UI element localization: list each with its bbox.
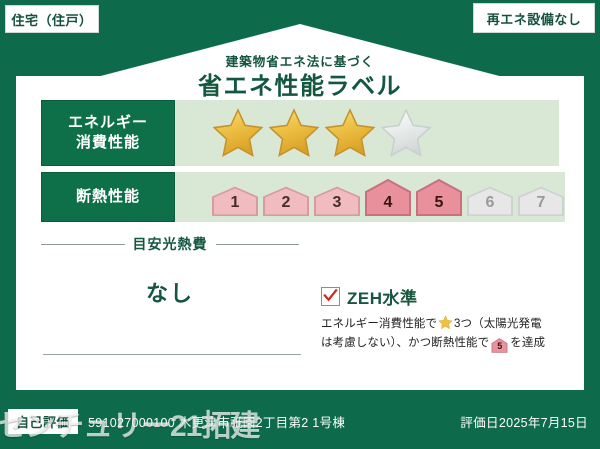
insulation-badge-value: 2: [282, 195, 291, 213]
heading-rule-right: [216, 244, 300, 245]
zeh-desc-badge-value: 5: [491, 338, 508, 355]
lower-section: 目安光熱費 なし ZEH水準 エネルギー消費性能で3つ（太陽光発電は考慮しない）…: [41, 232, 559, 372]
zeh-title: ZEH水準: [347, 284, 418, 309]
zeh-desc-part3: を達成: [510, 337, 545, 349]
insulation-badge-value: 7: [537, 195, 546, 213]
row-energy-label-line1: エネルギー: [68, 113, 148, 133]
zeh-desc-part1: エネルギー消費性能で: [321, 318, 437, 330]
label-content: 建築物省エネ法に基づく 省エネ性能ラベル エネルギー 消費性能 断熱性能 123…: [16, 24, 584, 390]
row-insulation-performance: 断熱性能 1234567: [41, 172, 559, 222]
zeh-desc-badge: 5: [491, 338, 508, 353]
page-title: 省エネ性能ラベル: [16, 73, 584, 101]
zeh-checkbox[interactable]: [321, 287, 340, 306]
star-icon-inline: [438, 315, 453, 330]
check-icon: [323, 288, 338, 303]
footer-bar: 自己評価 591027000100 木更津市祇園2丁目第2 1号棟 評価日202…: [0, 397, 600, 449]
insulation-badge-value: 6: [486, 195, 495, 213]
row-energy-label-line2: 消費性能: [68, 133, 148, 153]
zeh-desc-stars: 3つ（太陽光発電: [454, 318, 542, 330]
utility-cost-block: 目安光熱費 なし: [41, 232, 299, 372]
insulation-badge-value: 3: [333, 195, 342, 213]
utility-cost-heading-row: 目安光熱費: [41, 234, 299, 254]
insulation-grade-badges: 1234567: [211, 178, 565, 216]
label-board: 住宅（住戸） 再エネ設備なし 建築物省エネ法に基づく 省エネ性能ラベル エネルギ…: [0, 0, 600, 449]
insulation-badge-6: 6: [466, 186, 514, 216]
heading-rule-left: [41, 244, 125, 245]
insulation-badge-value: 5: [435, 195, 444, 213]
utility-cost-heading: 目安光熱費: [133, 234, 208, 254]
star-icon-filled: [267, 107, 321, 159]
insulation-badge-value: 4: [384, 195, 393, 213]
row-insulation-value: 1234567: [175, 172, 565, 222]
insulation-badge-5: 5: [415, 178, 463, 216]
property-address: 591027000100 木更津市祇園2丁目第2 1号棟: [88, 412, 345, 431]
utility-cost-value: なし: [41, 276, 299, 308]
insulation-badge-7: 7: [517, 186, 565, 216]
star-icon-empty: [379, 107, 433, 159]
zeh-description: エネルギー消費性能で3つ（太陽光発電は考慮しない）、かつ断熱性能で5を達成: [321, 315, 559, 353]
insulation-badge-4: 4: [364, 178, 412, 216]
cost-divider-line: [43, 354, 301, 355]
footer-inner: 自己評価 591027000100 木更津市祇園2丁目第2 1号棟 評価日202…: [8, 409, 592, 433]
star-rating: [211, 107, 433, 159]
label-title-block: 建築物省エネ法に基づく 省エネ性能ラベル: [16, 56, 584, 100]
zeh-block: ZEH水準 エネルギー消費性能で3つ（太陽光発電は考慮しない）、かつ断熱性能で5…: [299, 232, 559, 372]
evaluation-date: 評価日2025年7月15日: [460, 412, 592, 431]
row-energy-label: エネルギー 消費性能: [41, 100, 175, 166]
zeh-heading-row: ZEH水準: [321, 284, 559, 309]
row-energy-performance: エネルギー 消費性能: [41, 100, 559, 166]
row-insulation-label: 断熱性能: [41, 172, 175, 222]
insulation-badge-3: 3: [313, 186, 361, 216]
star-icon-filled: [323, 107, 377, 159]
star-icon-filled: [211, 107, 265, 159]
insulation-badge-value: 1: [231, 195, 240, 213]
zeh-desc-part2: は考慮しない）、かつ断熱性能で: [321, 337, 489, 349]
self-evaluation-badge: 自己評価: [8, 409, 78, 434]
row-energy-value: [175, 100, 559, 166]
title-subtitle: 建築物省エネ法に基づく: [16, 56, 584, 69]
insulation-badge-2: 2: [262, 186, 310, 216]
insulation-badge-1: 1: [211, 186, 259, 216]
